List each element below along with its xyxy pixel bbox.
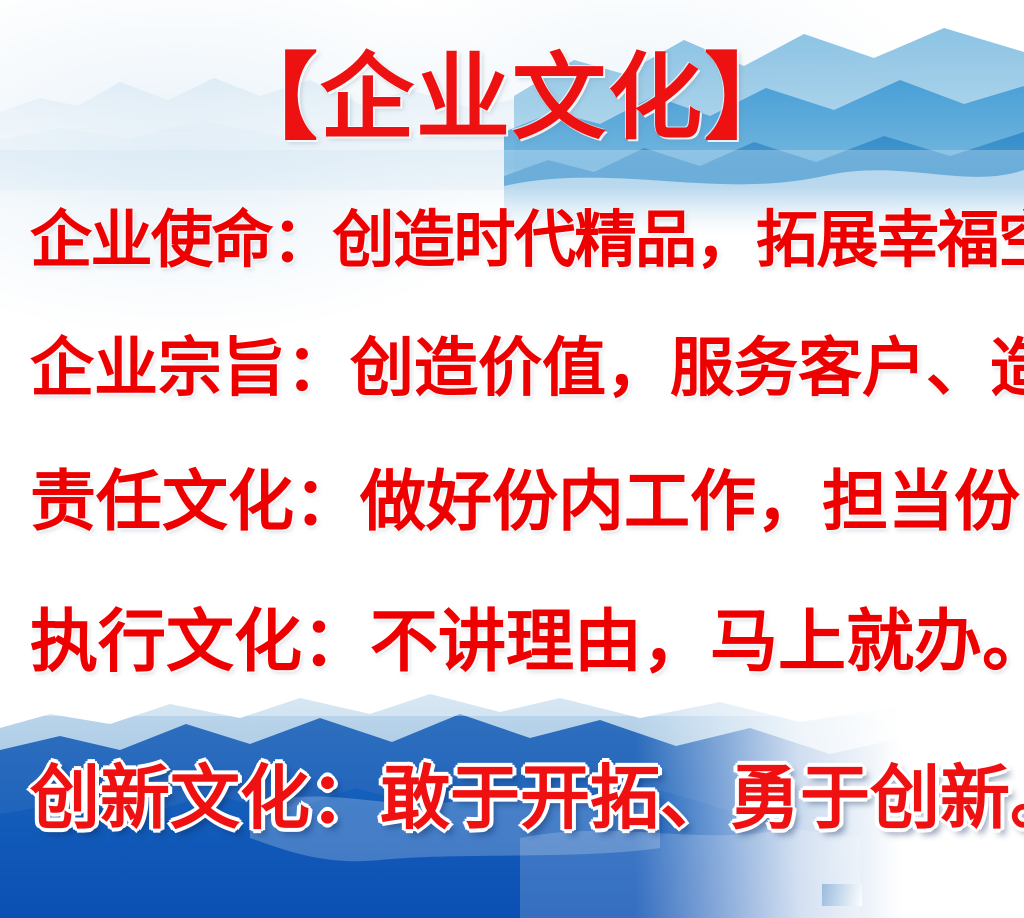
- mid-haze-band: [0, 150, 1024, 210]
- page-title: 【企业文化】: [0, 47, 1024, 151]
- culture-line-responsibility: 责任文化：做好份内工作，担当份内责任。: [30, 462, 1024, 542]
- bottom-right-artifact-patch: [822, 884, 862, 906]
- culture-line-purpose: 企业宗旨：创造价值，服务客户、造福社会。: [30, 330, 1024, 408]
- culture-poster: 【企业文化】 企业使命：创造时代精品，拓展幸福空间，缔造美好生活。 企业宗旨：创…: [0, 0, 1024, 918]
- culture-line-execution: 执行文化：不讲理由，马上就办。: [30, 602, 1024, 684]
- culture-line-innovation: 创新文化：敢于开拓、勇于创新。: [30, 756, 1024, 840]
- culture-line-mission: 企业使命：创造时代精品，拓展幸福空间，缔造美好生活。: [30, 202, 1024, 278]
